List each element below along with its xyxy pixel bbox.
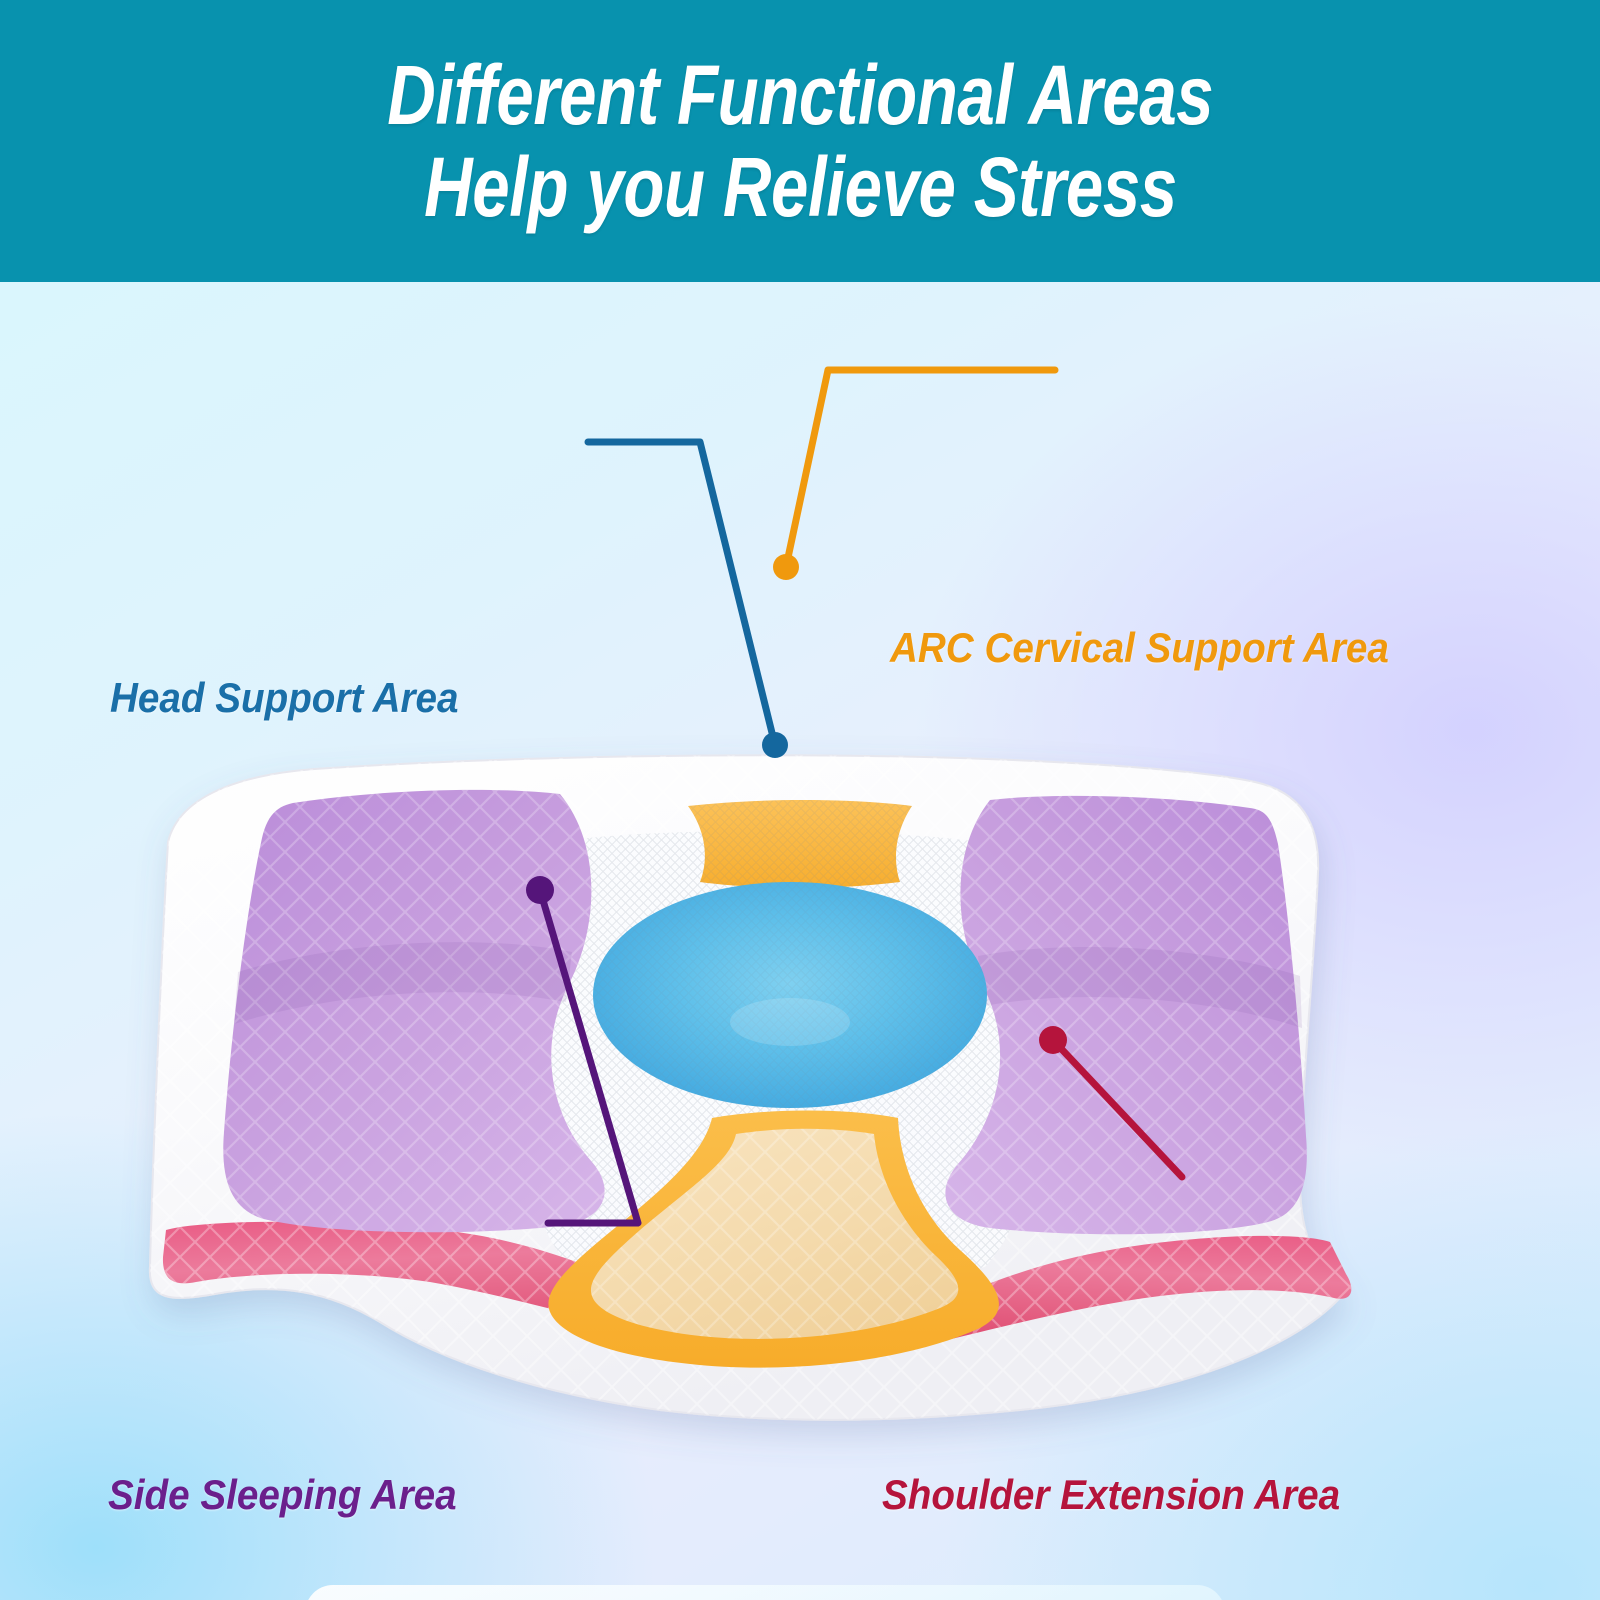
header-banner: Different Functional Areas Help you Reli… bbox=[0, 0, 1600, 282]
zone-arc-cervical-support bbox=[688, 800, 912, 888]
callout-label-shoulder-extension: Shoulder Extension Area bbox=[882, 1474, 1340, 1516]
callout-label-side-sleeping: Side Sleeping Area bbox=[108, 1474, 457, 1516]
page-title-line-1: Different Functional Areas bbox=[387, 49, 1213, 141]
callout-label-head-support: Head Support Area bbox=[110, 677, 459, 719]
callout-label-arc-cervical: ARC Cervical Support Area bbox=[890, 627, 1389, 669]
diagram-stage: Head Support Area ARC Cervical Support A… bbox=[0, 282, 1600, 1600]
leader-head-support bbox=[588, 442, 788, 758]
zone-side-sleeping-right bbox=[945, 796, 1306, 1234]
page-title-line-2: Help you Relieve Stress bbox=[424, 141, 1177, 233]
zone-head-support bbox=[593, 882, 987, 1108]
comparison-card bbox=[305, 1585, 1225, 1600]
leader-arc-cervical bbox=[773, 370, 1055, 580]
infographic-page: Different Functional Areas Help you Reli… bbox=[0, 0, 1600, 1600]
pillow-illustration bbox=[0, 282, 1600, 1600]
zone-side-sleeping-left bbox=[223, 790, 604, 1232]
comparison-illustration bbox=[305, 1585, 1225, 1600]
